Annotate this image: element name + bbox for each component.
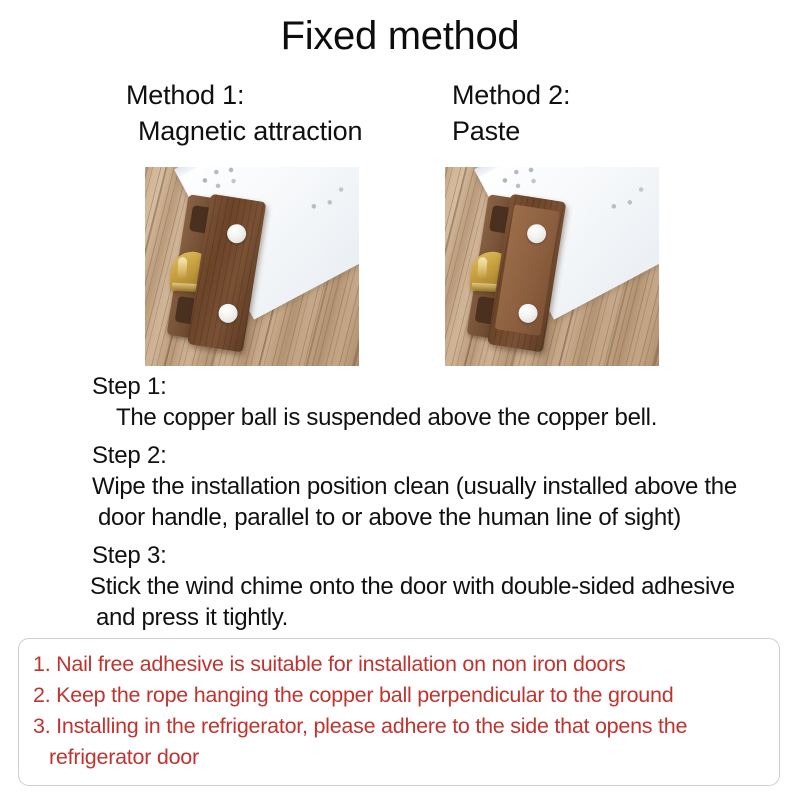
note-line-3: 3. Installing in the refrigerator, pleas… (33, 711, 765, 742)
note-line-2: 2. Keep the rope hanging the copper ball… (33, 680, 765, 711)
book-text-marks-secondary (302, 173, 359, 229)
product-photo-row (0, 167, 800, 367)
note-line-4: refrigerator door (33, 742, 765, 773)
step-3-heading: Step 3: (0, 541, 800, 571)
step-2-line-2: door handle, parallel to or above the hu… (0, 502, 800, 533)
method-2-heading: Method 2: (452, 80, 570, 111)
step-3-line-2: and press it tightly. (0, 602, 800, 633)
method-2-label: Method 2: Paste (452, 80, 570, 147)
steps-section: Step 1: The copper ball is suspended abo… (0, 372, 800, 633)
infographic-page: Fixed method Method 1: Magnetic attracti… (0, 0, 800, 800)
step-2: Step 2: Wipe the installation position c… (0, 441, 800, 533)
step-2-line-1: Wipe the installation position clean (us… (0, 471, 800, 502)
method-1-label: Method 1: Magnetic attraction (126, 80, 362, 147)
method-1-name: Magnetic attraction (126, 116, 362, 147)
product-photo-method-2 (445, 167, 659, 366)
bell-highlight (177, 257, 187, 279)
method-headings: Method 1: Magnetic attraction Method 2: … (0, 80, 800, 160)
book-text-marks-secondary (602, 173, 659, 229)
page-title: Fixed method (0, 14, 800, 59)
step-2-heading: Step 2: (0, 441, 800, 471)
method-2-name: Paste (452, 116, 570, 147)
product-photo-method-1 (145, 167, 359, 366)
step-1-line-1: The copper ball is suspended above the c… (0, 402, 800, 433)
note-line-1: 1. Nail free adhesive is suitable for in… (33, 649, 765, 680)
warning-notes-box: 1. Nail free adhesive is suitable for in… (18, 638, 780, 786)
step-1: Step 1: The copper ball is suspended abo… (0, 372, 800, 433)
step-1-heading: Step 1: (0, 372, 800, 402)
step-3: Step 3: Stick the wind chime onto the do… (0, 541, 800, 633)
method-1-heading: Method 1: (126, 80, 362, 111)
bell-highlight (477, 257, 487, 279)
step-3-line-1: Stick the wind chime onto the door with … (0, 571, 800, 602)
